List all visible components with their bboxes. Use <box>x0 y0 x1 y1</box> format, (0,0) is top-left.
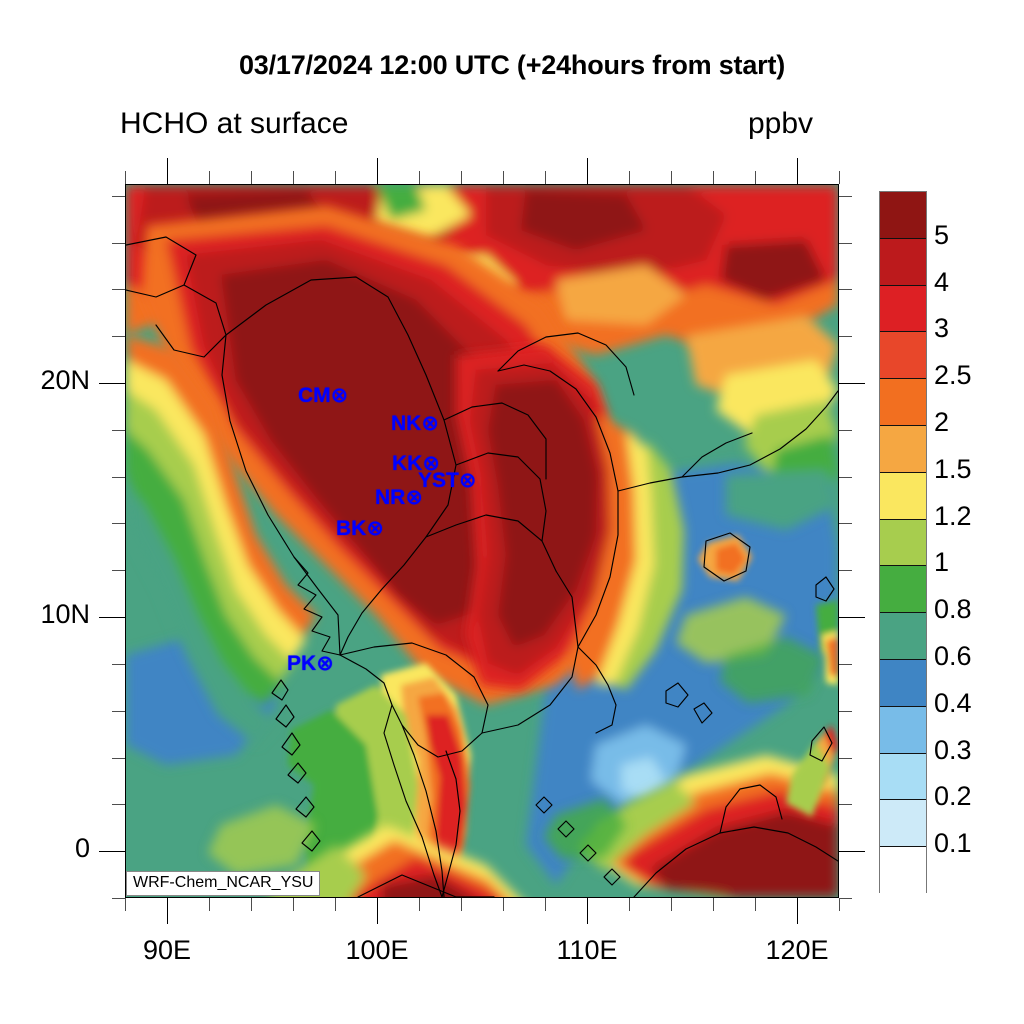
colorbar-band-14 <box>880 847 926 894</box>
y-minor-tick-22 <box>839 336 852 337</box>
x-minor-tick-114 <box>671 171 672 184</box>
station-marker-pk[interactable]: PK⊗ <box>287 653 334 674</box>
x-minor-tick-114 <box>671 898 672 911</box>
station-marker-cm[interactable]: CM⊗ <box>298 385 348 406</box>
station-label-yst: YST <box>418 469 459 492</box>
y-minor-tick-8 <box>839 664 852 665</box>
figure-canvas: 03/17/2024 12:00 UTC (+24hours from star… <box>0 0 1024 1024</box>
colorbar-tick-label-0.1: 0.1 <box>934 828 972 859</box>
station-marker-yst[interactable]: YST⊗ <box>418 470 476 491</box>
station-label-pk: PK <box>287 652 316 675</box>
page-title: 03/17/2024 12:00 UTC (+24hours from star… <box>0 50 1024 81</box>
x-minor-tick-118 <box>755 171 756 184</box>
colorbar-band-6 <box>880 473 926 520</box>
x-minor-tick-94 <box>251 171 252 184</box>
colorbar-band-9 <box>880 613 926 660</box>
y-minor-tick-2 <box>112 804 125 805</box>
x-minor-tick-116 <box>713 898 714 911</box>
x-minor-tick-98 <box>335 171 336 184</box>
y-minor-tick-6 <box>839 711 852 712</box>
y-minor-tick-16 <box>112 477 125 478</box>
y-minor-tick-24 <box>839 289 852 290</box>
x-minor-tick-102 <box>419 898 420 911</box>
x-minor-tick-122 <box>839 898 840 911</box>
colorbar-tick-label-0.8: 0.8 <box>934 594 972 625</box>
variable-title: HCHO at surface <box>120 107 348 141</box>
hcho-contour-field <box>126 185 838 897</box>
colorbar-tick-label-0.6: 0.6 <box>934 641 972 672</box>
colorbar-tick-label-1.2: 1.2 <box>934 501 972 532</box>
y-tick-label-20N: 20N <box>0 365 90 396</box>
y-minor-tick-4 <box>839 758 852 759</box>
x-minor-tick-104 <box>461 171 462 184</box>
x-minor-tick-116 <box>713 171 714 184</box>
x-minor-tick-94 <box>251 898 252 911</box>
y-major-tick-0 <box>839 851 865 852</box>
y-minor-tick-8 <box>112 664 125 665</box>
y-minor-tick-14 <box>839 523 852 524</box>
colorbar-tick-label-3: 3 <box>934 313 949 344</box>
x-minor-tick-92 <box>209 898 210 911</box>
colorbar[interactable] <box>879 191 927 893</box>
colorbar-band-0 <box>880 192 926 239</box>
y-minor-tick-12 <box>112 570 125 571</box>
y-minor-tick--2 <box>112 898 125 899</box>
station-marker-nr[interactable]: NR⊗ <box>375 487 423 508</box>
y-minor-tick-14 <box>112 523 125 524</box>
colorbar-tick-label-1: 1 <box>934 547 949 578</box>
x-minor-tick-118 <box>755 898 756 911</box>
x-tick-label-100E: 100E <box>307 935 447 966</box>
station-symbol-icon: ⊗ <box>331 384 349 407</box>
x-minor-tick-122 <box>839 171 840 184</box>
station-label-cm: CM <box>298 384 331 407</box>
station-symbol-icon: ⊗ <box>316 652 334 675</box>
x-tick-label-90E: 90E <box>97 935 237 966</box>
y-minor-tick-18 <box>112 430 125 431</box>
colorbar-tick-label-1.5: 1.5 <box>934 454 972 485</box>
y-minor-tick-24 <box>112 289 125 290</box>
x-tick-label-120E: 120E <box>727 935 867 966</box>
colorbar-band-11 <box>880 707 926 754</box>
x-tick-label-110E: 110E <box>517 935 657 966</box>
x-major-tick-110 <box>587 898 588 924</box>
colorbar-tick-label-0.2: 0.2 <box>934 781 972 812</box>
colorbar-band-1 <box>880 239 926 286</box>
y-minor-tick-28 <box>112 196 125 197</box>
y-minor-tick-4 <box>112 758 125 759</box>
units-label: ppbv <box>748 107 813 141</box>
y-major-tick-20 <box>99 383 125 384</box>
x-minor-tick-96 <box>293 898 294 911</box>
colorbar-tick-label-4: 4 <box>934 267 949 298</box>
map-plot-area[interactable]: CM⊗ NK⊗ KK⊗ YST⊗ NR⊗ BK⊗ PK⊗ <box>125 184 839 898</box>
station-symbol-icon: ⊗ <box>405 486 423 509</box>
x-minor-tick-112 <box>629 898 630 911</box>
y-minor-tick--2 <box>839 898 852 899</box>
station-label-nk: NK <box>391 412 421 435</box>
x-minor-tick-98 <box>335 898 336 911</box>
station-marker-nk[interactable]: NK⊗ <box>391 413 439 434</box>
x-major-tick-100 <box>377 158 378 184</box>
x-minor-tick-102 <box>419 171 420 184</box>
x-minor-tick-88 <box>125 171 126 184</box>
x-major-tick-100 <box>377 898 378 924</box>
x-minor-tick-104 <box>461 898 462 911</box>
y-major-tick-10 <box>99 617 125 618</box>
x-minor-tick-108 <box>545 898 546 911</box>
colorbar-band-3 <box>880 332 926 379</box>
colorbar-band-13 <box>880 800 926 847</box>
station-label-nr: NR <box>375 486 405 509</box>
colorbar-tick-label-2: 2 <box>934 407 949 438</box>
x-major-tick-120 <box>797 158 798 184</box>
x-minor-tick-108 <box>545 171 546 184</box>
x-minor-tick-112 <box>629 171 630 184</box>
x-major-tick-90 <box>167 158 168 184</box>
colorbar-band-8 <box>880 566 926 613</box>
y-minor-tick-26 <box>839 243 852 244</box>
colorbar-band-2 <box>880 286 926 333</box>
y-major-tick-10 <box>839 617 865 618</box>
x-major-tick-90 <box>167 898 168 924</box>
x-minor-tick-96 <box>293 171 294 184</box>
y-minor-tick-28 <box>839 196 852 197</box>
colorbar-tick-label-0.4: 0.4 <box>934 688 972 719</box>
y-minor-tick-26 <box>112 243 125 244</box>
y-minor-tick-6 <box>112 711 125 712</box>
station-label-bk: BK <box>336 517 366 540</box>
y-minor-tick-22 <box>112 336 125 337</box>
x-major-tick-120 <box>797 898 798 924</box>
y-tick-label-10N: 10N <box>0 599 90 630</box>
colorbar-tick-label-5: 5 <box>934 220 949 251</box>
model-watermark: WRF-Chem_NCAR_YSU <box>126 871 320 896</box>
y-minor-tick-12 <box>839 570 852 571</box>
y-minor-tick-2 <box>839 804 852 805</box>
y-minor-tick-18 <box>839 430 852 431</box>
colorbar-band-5 <box>880 426 926 473</box>
colorbar-band-10 <box>880 660 926 707</box>
x-minor-tick-92 <box>209 171 210 184</box>
y-major-tick-20 <box>839 383 865 384</box>
colorbar-tick-label-0.3: 0.3 <box>934 735 972 766</box>
x-minor-tick-106 <box>503 171 504 184</box>
x-minor-tick-106 <box>503 898 504 911</box>
y-major-tick-0 <box>99 851 125 852</box>
colorbar-band-12 <box>880 754 926 801</box>
colorbar-tick-label-2.5: 2.5 <box>934 360 972 391</box>
x-minor-tick-88 <box>125 898 126 911</box>
station-symbol-icon: ⊗ <box>459 469 477 492</box>
y-minor-tick-16 <box>839 477 852 478</box>
y-tick-label-0: 0 <box>0 833 90 864</box>
colorbar-band-4 <box>880 379 926 426</box>
colorbar-band-7 <box>880 520 926 567</box>
x-major-tick-110 <box>587 158 588 184</box>
station-marker-bk[interactable]: BK⊗ <box>336 518 384 539</box>
station-symbol-icon: ⊗ <box>366 517 384 540</box>
station-symbol-icon: ⊗ <box>421 412 439 435</box>
